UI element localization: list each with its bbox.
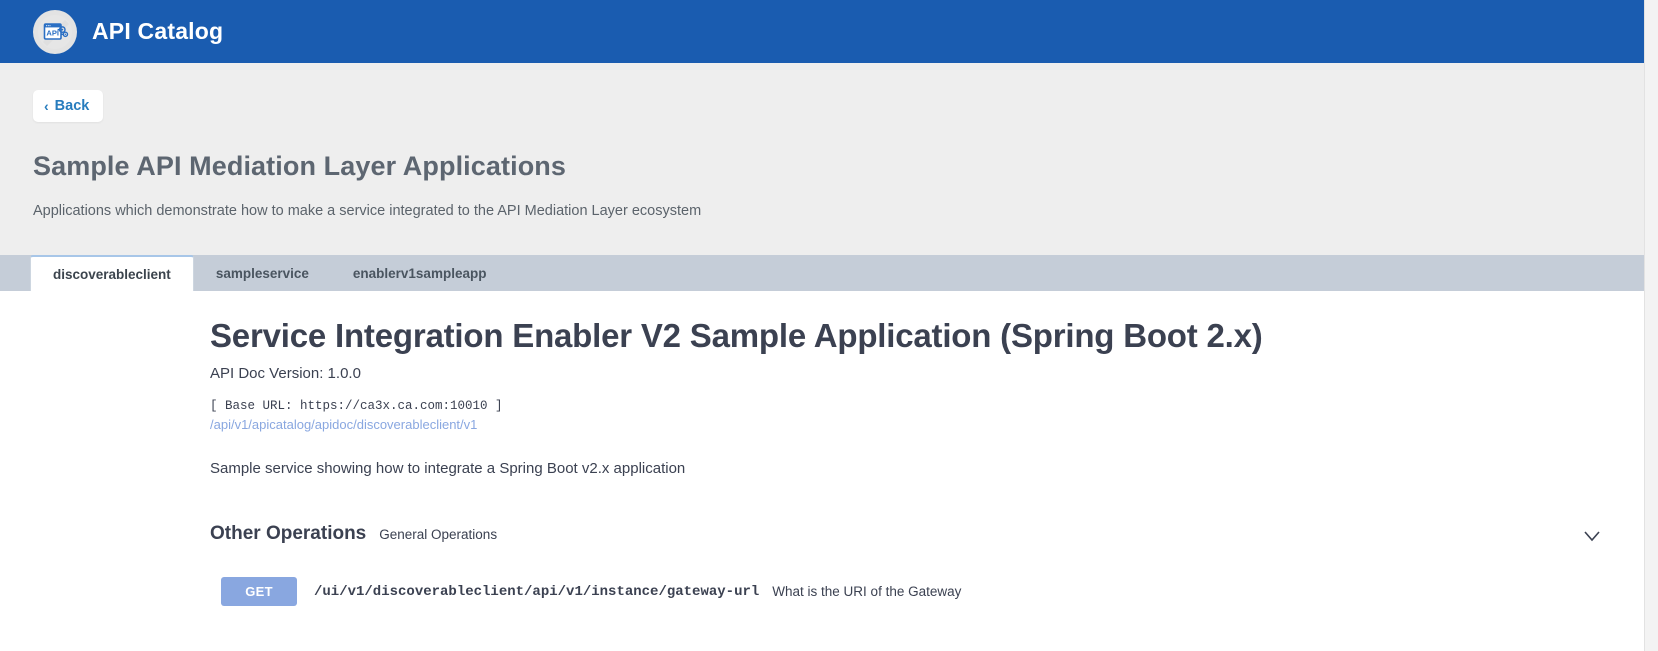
api-base-url: [ Base URL: https://ca3x.ca.com:10010 ] [210,399,1658,413]
app-header: API API Catalog [0,0,1658,63]
page-subtitle: Applications which demonstrate how to ma… [33,203,1658,219]
service-tab-bar: discoverableclient sampleservice enabler… [0,255,1658,291]
operations-block: Other Operations General Operations GET … [210,523,1658,612]
operations-tag-header[interactable]: Other Operations General Operations [210,523,1528,553]
operation-row[interactable]: GET /ui/v1/discoverableclient/api/v1/ins… [210,571,1528,612]
operations-tag-description: General Operations [379,527,497,542]
page-scrollbar[interactable] [1644,0,1658,651]
api-doc-link[interactable]: /api/v1/apicatalog/apidoc/discoverablecl… [210,417,477,432]
tab-enablerv1sampleapp[interactable]: enablerv1sampleapp [331,255,509,291]
operation-summary: What is the URI of the Gateway [772,584,961,599]
back-button-label: Back [55,98,90,114]
chevron-left-icon: ‹ [44,99,49,113]
api-doc-version: API Doc Version: 1.0.0 [210,365,1658,382]
operations-tag-name: Other Operations [210,523,366,545]
tab-sampleservice[interactable]: sampleservice [194,255,331,291]
http-method-badge: GET [221,577,297,606]
operation-path: /ui/v1/discoverableclient/api/v1/instanc… [314,584,759,600]
tab-label: sampleservice [216,266,309,281]
tab-discoverableclient[interactable]: discoverableclient [30,255,194,291]
api-catalog-logo-icon: API [33,10,77,54]
chevron-down-icon[interactable] [1581,525,1603,547]
tab-label: enablerv1sampleapp [353,266,487,281]
tab-label: discoverableclient [53,267,171,282]
service-detail-band: ‹ Back Sample API Mediation Layer Applic… [0,63,1658,255]
svg-text:API: API [46,28,59,37]
page-title: Sample API Mediation Layer Applications [33,151,1658,182]
api-doc-description: Sample service showing how to integrate … [210,460,1658,477]
app-title: API Catalog [92,18,223,45]
swagger-ui-container: Service Integration Enabler V2 Sample Ap… [0,291,1658,651]
api-doc-title: Service Integration Enabler V2 Sample Ap… [210,317,1658,355]
back-button[interactable]: ‹ Back [33,90,103,122]
